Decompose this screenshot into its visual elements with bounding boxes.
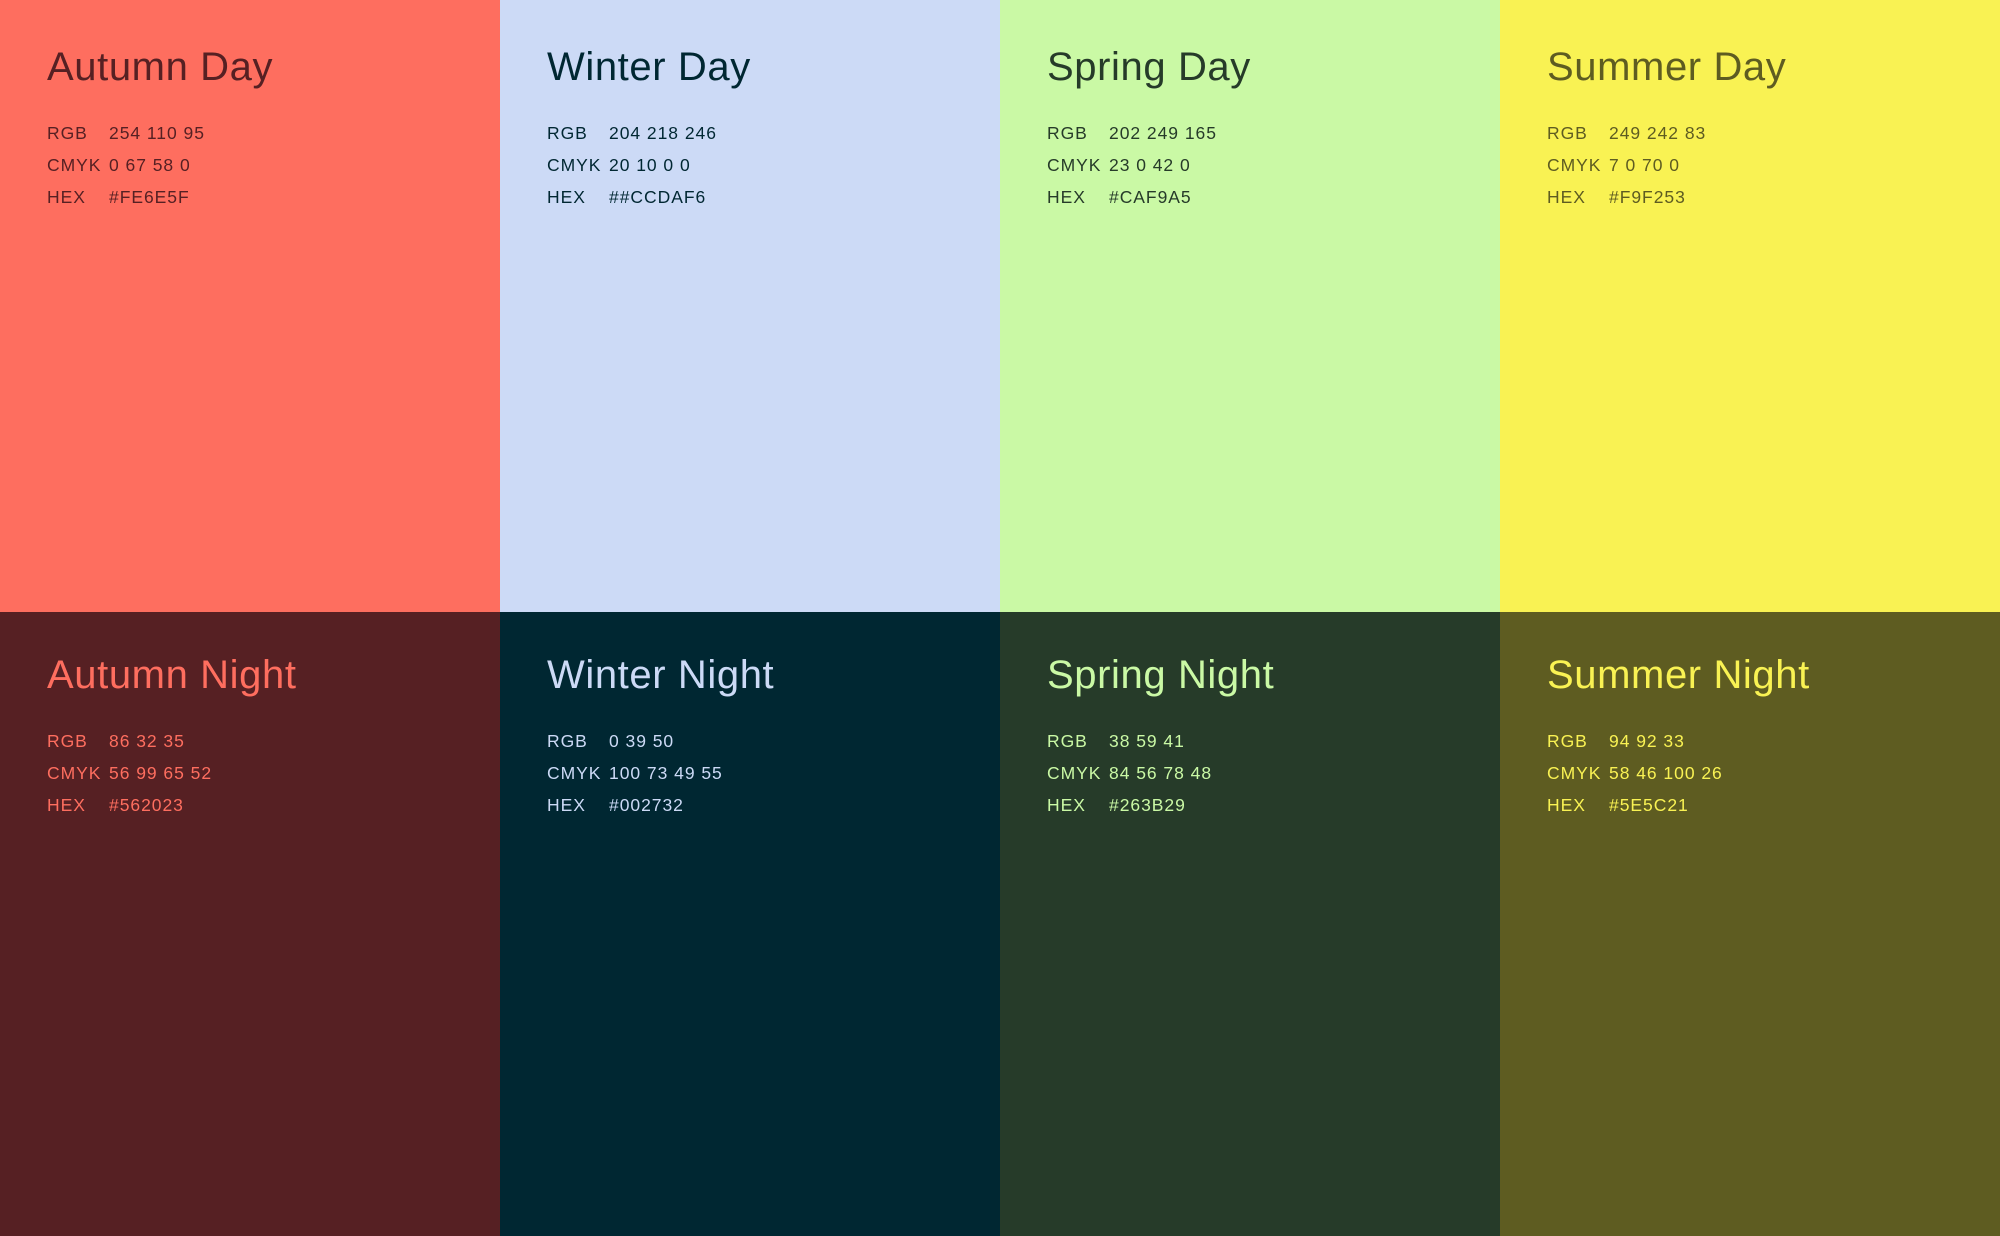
spec-value-cmyk: 58 46 100 26 [1609,757,2000,789]
swatch-content: Winter NightRGB0 39 50CMYK100 73 49 55HE… [500,612,1000,821]
color-swatch-autumn-day[interactable]: Autumn DayRGB254 110 95CMYK0 67 58 0HEX#… [0,0,500,612]
swatch-content: Autumn DayRGB254 110 95CMYK0 67 58 0HEX#… [0,0,500,213]
swatch-content: Summer DayRGB249 242 83CMYK7 0 70 0HEX#F… [1500,0,2000,213]
spec-value-rgb: 94 92 33 [1609,725,2000,757]
spec-label-cmyk: CMYK [547,149,609,181]
swatch-spec-list: RGB254 110 95CMYK0 67 58 0HEX#FE6E5F [47,117,500,213]
spec-label-hex: HEX [1047,181,1109,213]
swatch-spec-list: RGB86 32 35CMYK56 99 65 52HEX#562023 [47,725,500,821]
swatch-content: Summer NightRGB94 92 33CMYK58 46 100 26H… [1500,612,2000,821]
color-palette-grid: Autumn DayRGB254 110 95CMYK0 67 58 0HEX#… [0,0,2000,1236]
swatch-title: Winter Night [547,654,1000,696]
spec-label-cmyk: CMYK [47,149,109,181]
spec-value-rgb: 202 249 165 [1109,117,1500,149]
spec-label-hex: HEX [1547,181,1609,213]
swatch-title: Spring Night [1047,654,1500,696]
color-swatch-summer-day[interactable]: Summer DayRGB249 242 83CMYK7 0 70 0HEX#F… [1500,0,2000,612]
swatch-content: Spring NightRGB38 59 41CMYK84 56 78 48HE… [1000,612,1500,821]
spec-label-rgb: RGB [1547,117,1609,149]
spec-value-cmyk: 0 67 58 0 [109,149,500,181]
swatch-spec-list: RGB204 218 246CMYK20 10 0 0HEX##CCDAF6 [547,117,1000,213]
spec-label-cmyk: CMYK [47,757,109,789]
spec-value-rgb: 254 110 95 [109,117,500,149]
swatch-spec-list: RGB0 39 50CMYK100 73 49 55HEX#002732 [547,725,1000,821]
spec-value-rgb: 86 32 35 [109,725,500,757]
swatch-title: Winter Day [547,46,1000,88]
spec-value-cmyk: 7 0 70 0 [1609,149,2000,181]
swatch-content: Autumn NightRGB86 32 35CMYK56 99 65 52HE… [0,612,500,821]
spec-value-hex: #5E5C21 [1609,789,2000,821]
swatch-title: Summer Day [1547,46,2000,88]
spec-label-cmyk: CMYK [1047,149,1109,181]
spec-label-rgb: RGB [47,117,109,149]
spec-value-cmyk: 23 0 42 0 [1109,149,1500,181]
spec-label-rgb: RGB [1047,117,1109,149]
spec-value-rgb: 0 39 50 [609,725,1000,757]
swatch-title: Autumn Night [47,654,500,696]
spec-label-cmyk: CMYK [1047,757,1109,789]
spec-label-cmyk: CMYK [1547,757,1609,789]
spec-value-hex: #562023 [109,789,500,821]
spec-value-hex: #CAF9A5 [1109,181,1500,213]
spec-value-cmyk: 100 73 49 55 [609,757,1000,789]
swatch-content: Spring DayRGB202 249 165CMYK23 0 42 0HEX… [1000,0,1500,213]
spec-label-hex: HEX [547,789,609,821]
spec-value-cmyk: 20 10 0 0 [609,149,1000,181]
spec-label-hex: HEX [47,789,109,821]
spec-value-hex: #F9F253 [1609,181,2000,213]
spec-label-rgb: RGB [47,725,109,757]
spec-label-cmyk: CMYK [1547,149,1609,181]
spec-label-hex: HEX [547,181,609,213]
spec-value-rgb: 249 242 83 [1609,117,2000,149]
spec-label-rgb: RGB [1047,725,1109,757]
spec-value-hex: #263B29 [1109,789,1500,821]
color-swatch-spring-night[interactable]: Spring NightRGB38 59 41CMYK84 56 78 48HE… [1000,612,1500,1236]
spec-value-cmyk: 56 99 65 52 [109,757,500,789]
color-swatch-autumn-night[interactable]: Autumn NightRGB86 32 35CMYK56 99 65 52HE… [0,612,500,1236]
spec-value-hex: #FE6E5F [109,181,500,213]
swatch-spec-list: RGB249 242 83CMYK7 0 70 0HEX#F9F253 [1547,117,2000,213]
color-swatch-summer-night[interactable]: Summer NightRGB94 92 33CMYK58 46 100 26H… [1500,612,2000,1236]
swatch-title: Autumn Day [47,46,500,88]
spec-value-cmyk: 84 56 78 48 [1109,757,1500,789]
swatch-title: Spring Day [1047,46,1500,88]
spec-value-hex: ##CCDAF6 [609,181,1000,213]
spec-label-rgb: RGB [547,725,609,757]
swatch-spec-list: RGB38 59 41CMYK84 56 78 48HEX#263B29 [1047,725,1500,821]
swatch-spec-list: RGB202 249 165CMYK23 0 42 0HEX#CAF9A5 [1047,117,1500,213]
swatch-spec-list: RGB94 92 33CMYK58 46 100 26HEX#5E5C21 [1547,725,2000,821]
spec-label-rgb: RGB [1547,725,1609,757]
spec-label-hex: HEX [1547,789,1609,821]
spec-label-hex: HEX [47,181,109,213]
spec-label-hex: HEX [1047,789,1109,821]
spec-value-rgb: 204 218 246 [609,117,1000,149]
color-swatch-winter-day[interactable]: Winter DayRGB204 218 246CMYK20 10 0 0HEX… [500,0,1000,612]
spec-value-hex: #002732 [609,789,1000,821]
swatch-title: Summer Night [1547,654,2000,696]
swatch-content: Winter DayRGB204 218 246CMYK20 10 0 0HEX… [500,0,1000,213]
color-swatch-spring-day[interactable]: Spring DayRGB202 249 165CMYK23 0 42 0HEX… [1000,0,1500,612]
spec-value-rgb: 38 59 41 [1109,725,1500,757]
spec-label-cmyk: CMYK [547,757,609,789]
color-swatch-winter-night[interactable]: Winter NightRGB0 39 50CMYK100 73 49 55HE… [500,612,1000,1236]
spec-label-rgb: RGB [547,117,609,149]
